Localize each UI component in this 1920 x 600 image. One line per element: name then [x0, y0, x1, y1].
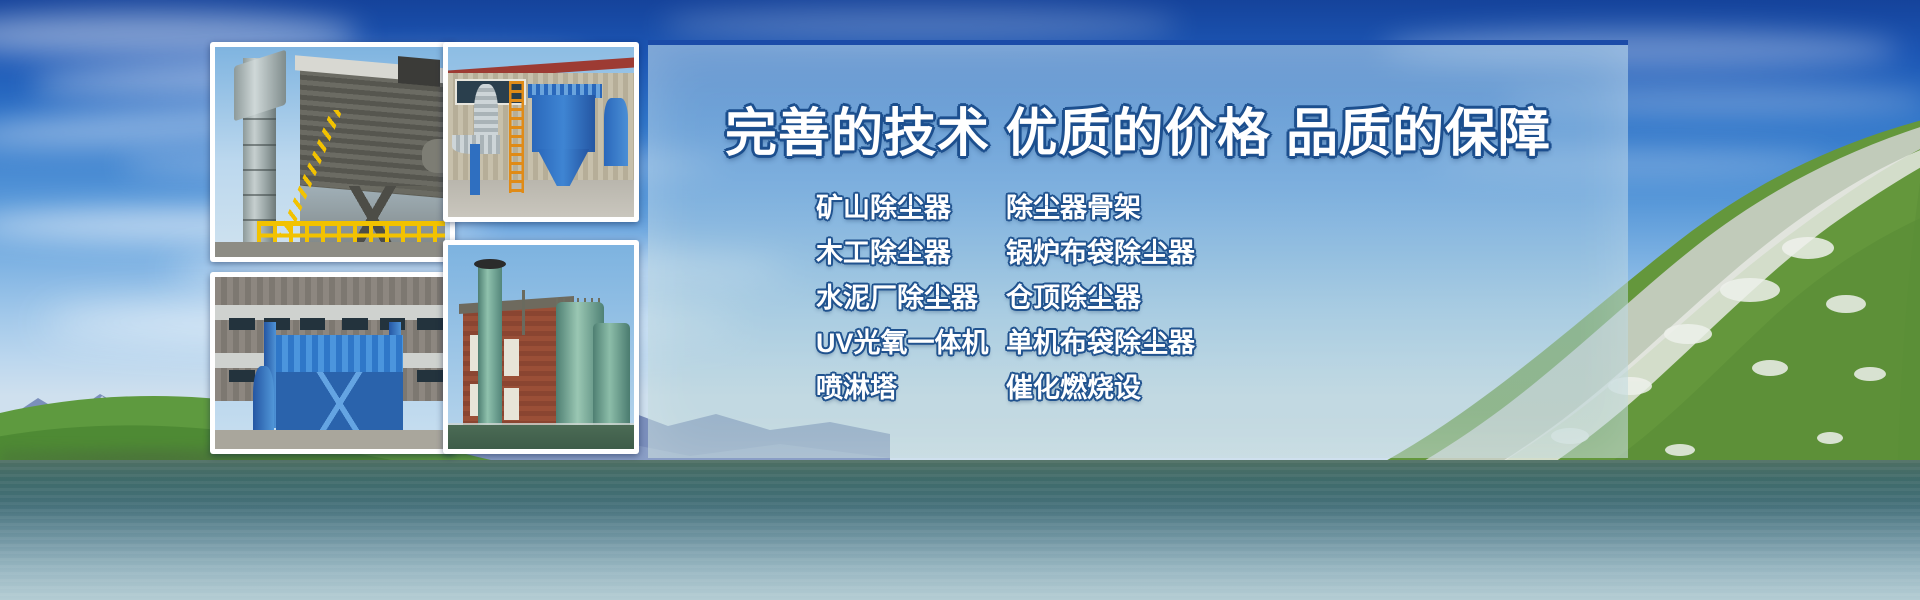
product-name-right: 除尘器骨架: [1006, 186, 1456, 225]
photo-green-stacks[interactable]: [443, 240, 639, 454]
list-item[interactable]: 水泥厂除尘器 仓顶除尘器: [816, 273, 1456, 318]
product-name-right: 锅炉布袋除尘器: [1006, 231, 1456, 270]
photo-baghouse-grey[interactable]: [210, 42, 455, 262]
page-title: 完善的技术 优质的价格 品质的保障: [648, 91, 1628, 166]
photo-blue-dust-collector[interactable]: [210, 272, 455, 454]
list-item[interactable]: UV光氧一体机 单机布袋除尘器: [816, 318, 1456, 363]
list-item[interactable]: 喷淋塔 催化燃烧设: [816, 363, 1456, 408]
product-name-left: UV光氧一体机: [816, 321, 1006, 360]
product-name-right: 仓顶除尘器: [1006, 276, 1456, 315]
product-name-left: 矿山除尘器: [816, 186, 1006, 225]
lake-reflection: [0, 460, 1920, 600]
cloud-streak-icon: [660, 8, 1180, 42]
product-name-left: 木工除尘器: [816, 231, 1006, 270]
product-name-right: 单机布袋除尘器: [1006, 321, 1456, 360]
product-name-left: 水泥厂除尘器: [816, 276, 1006, 315]
photo-workshop-blue-hopper[interactable]: [443, 42, 639, 222]
list-item[interactable]: 木工除尘器 锅炉布袋除尘器: [816, 228, 1456, 273]
product-name-right: 催化燃烧设: [1006, 366, 1456, 405]
product-name-left: 喷淋塔: [816, 366, 1006, 405]
product-list: 矿山除尘器 除尘器骨架 木工除尘器 锅炉布袋除尘器 水泥厂除尘器 仓顶除尘器 U…: [816, 183, 1456, 408]
list-item[interactable]: 矿山除尘器 除尘器骨架: [816, 183, 1456, 228]
promo-banner: 完善的技术 优质的价格 品质的保障 矿山除尘器 除尘器骨架 木工除尘器 锅炉布袋…: [0, 0, 1920, 600]
content-panel: 完善的技术 优质的价格 品质的保障 矿山除尘器 除尘器骨架 木工除尘器 锅炉布袋…: [648, 40, 1628, 458]
